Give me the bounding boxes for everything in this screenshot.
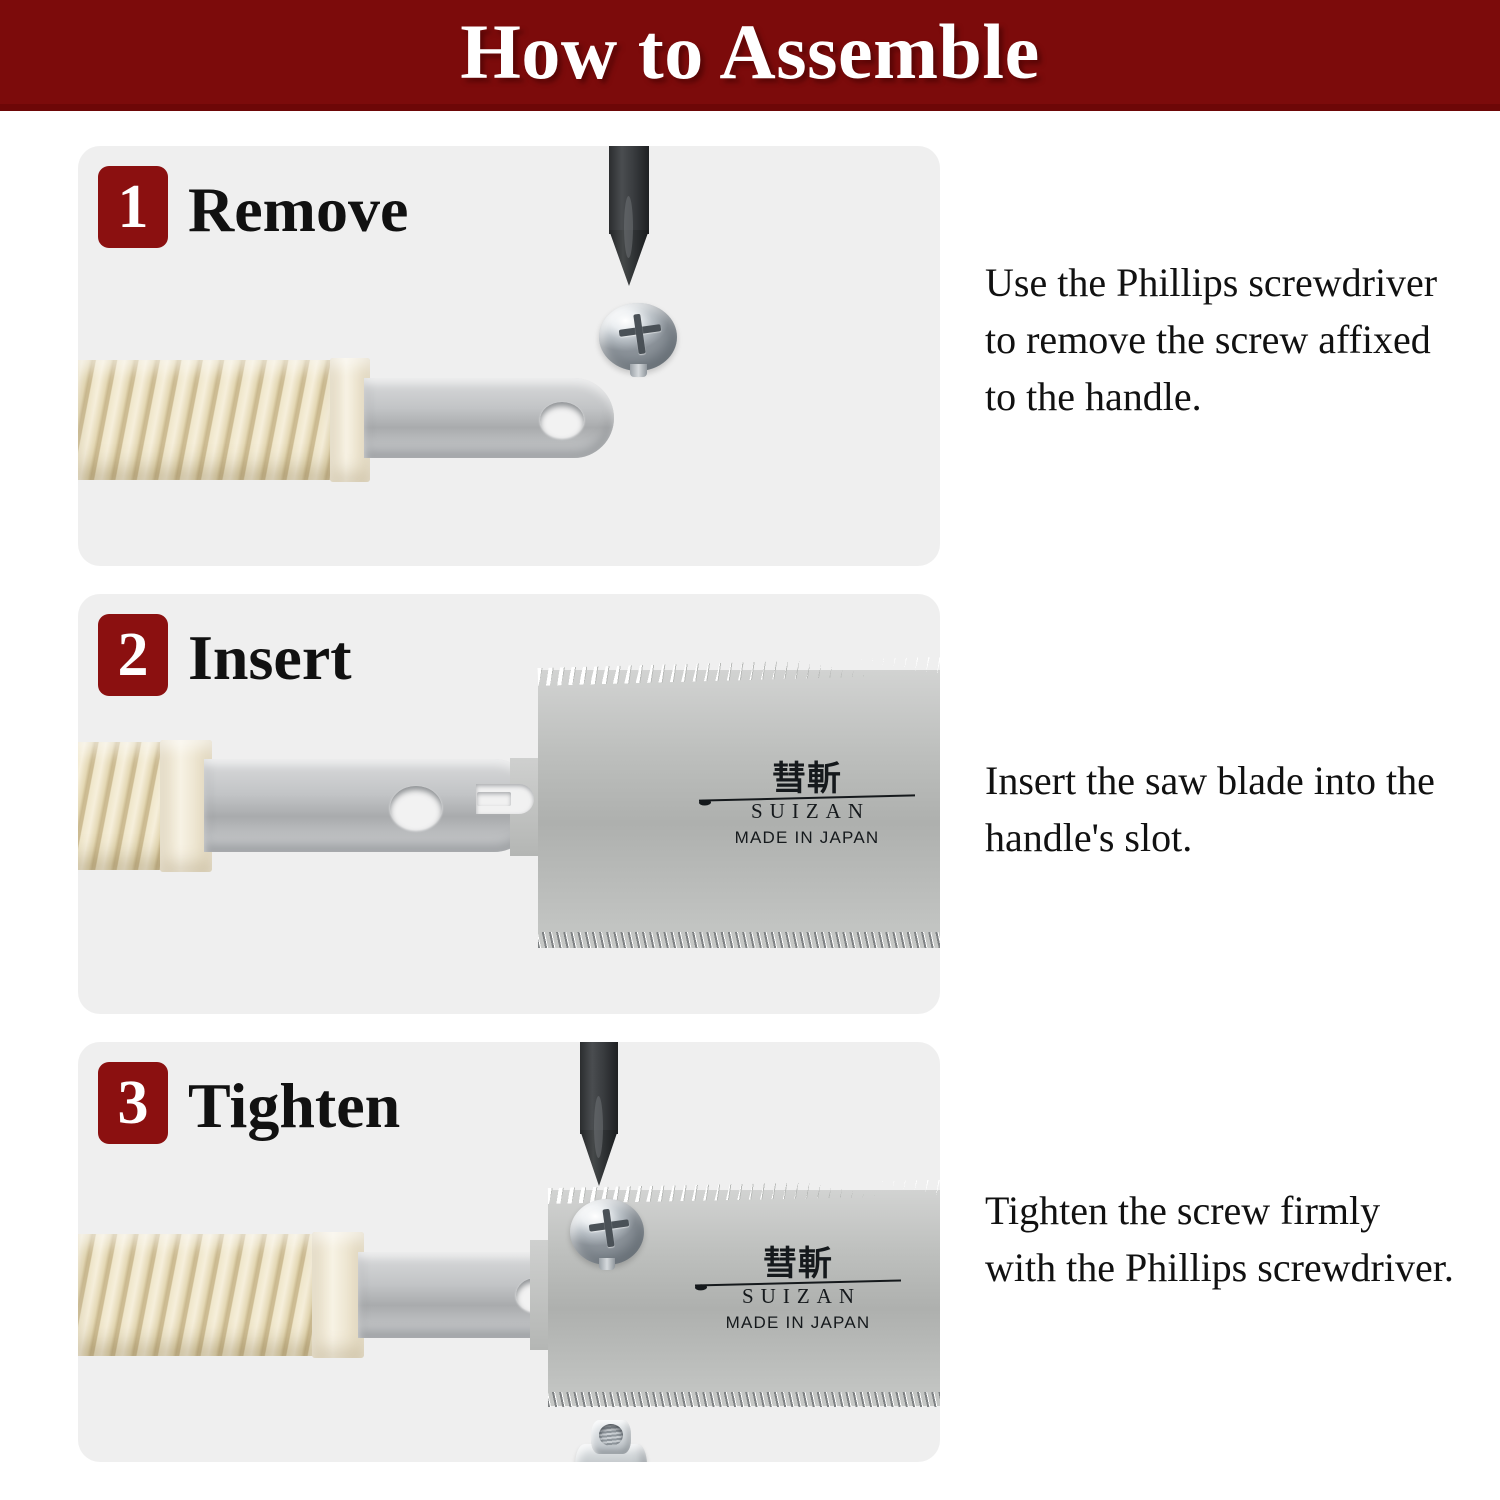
page-title: How to Assemble (460, 13, 1039, 91)
step-photo-panel-3: 彗斬 SUIZAN MADE IN JAPAN (78, 1042, 940, 1462)
bit-flute (624, 196, 633, 258)
screw-shank (630, 364, 647, 377)
blade-keyhole-slot (477, 792, 511, 806)
blade-crosscut-teeth (548, 1392, 940, 1407)
step-badge-3: 3 (98, 1062, 168, 1144)
step-badge-2: 2 (98, 614, 168, 696)
step-number-3: 3 (118, 1072, 149, 1134)
step-badge-1: 1 (98, 166, 168, 248)
handle-ferrule (312, 1232, 364, 1358)
brand-kanji: 彗斬 (678, 1247, 918, 1281)
bit-flute (594, 1096, 603, 1158)
brand-origin: MADE IN JAPAN (682, 828, 932, 848)
phillips-bit (580, 1042, 618, 1186)
step-instruction-3: Tighten the screw firmly with the Philli… (985, 1183, 1455, 1297)
step-photo-panel-2: 彗斬 SUIZAN MADE IN JAPAN 2 Insert (78, 594, 940, 1014)
step-instruction-1: Use the Phillips screwdriver to remove t… (985, 255, 1455, 425)
phillips-bit (609, 146, 649, 286)
header-banner: How to Assemble (0, 0, 1500, 104)
step-instruction-2: Insert the saw blade into the handle's s… (985, 753, 1455, 867)
brand-name: SUIZAN (682, 800, 932, 823)
dome-screw (599, 303, 677, 371)
rattan-wrap (78, 1234, 324, 1356)
rattan-wrap (78, 360, 340, 480)
blade-crosscut-teeth (538, 932, 940, 948)
tang-screw-hole (540, 402, 584, 438)
screw-shank (599, 1258, 615, 1270)
blade-brand-stamp: 彗斬 SUIZAN MADE IN JAPAN (682, 762, 932, 848)
step-title-3: Tighten (188, 1069, 400, 1143)
header-bottom-rule (0, 104, 1500, 111)
brand-name: SUIZAN (678, 1285, 918, 1308)
rattan-handle (78, 360, 372, 480)
brand-origin: MADE IN JAPAN (678, 1313, 918, 1333)
step-number-1: 1 (118, 176, 149, 238)
step-photo-panel-1: 1 Remove (78, 146, 940, 566)
step-title-2: Insert (188, 621, 352, 695)
blade-brand-stamp: 彗斬 SUIZAN MADE IN JAPAN (678, 1247, 918, 1333)
tang-screw-hole (390, 786, 442, 830)
step-number-2: 2 (118, 624, 149, 686)
barrel-nut (575, 1420, 647, 1462)
rattan-handle (78, 1234, 364, 1356)
rattan-handle (78, 742, 212, 870)
brand-kanji: 彗斬 (682, 762, 932, 796)
step-title-1: Remove (188, 173, 408, 247)
dome-screw (570, 1199, 644, 1265)
